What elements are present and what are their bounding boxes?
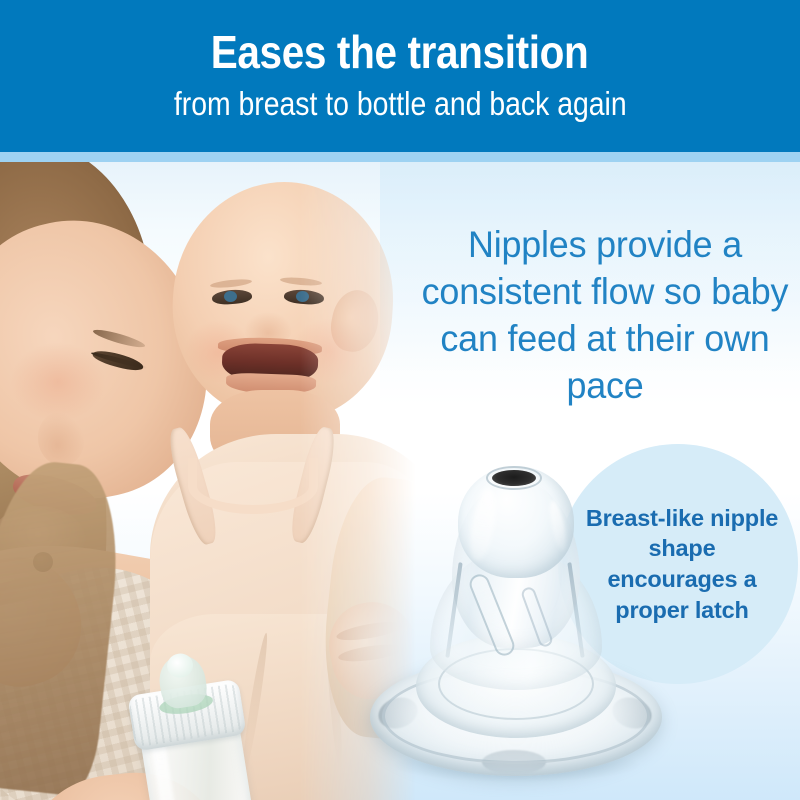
photo-inner: Dr. Brown's xyxy=(0,162,420,800)
banner-headline: Eases the transition xyxy=(211,28,589,76)
product-nipple-image xyxy=(366,462,666,782)
header-banner: Eases the transition from breast to bott… xyxy=(0,0,800,152)
baby-iris-right xyxy=(296,291,309,302)
nipple-feeding-hole xyxy=(492,470,536,486)
banner-subhead: from breast to bottle and back again xyxy=(174,86,627,122)
body-copy-block: Nipples provide a consistent flow so bab… xyxy=(410,222,800,410)
marketing-image: Eases the transition from breast to bott… xyxy=(0,0,800,800)
body-copy-text: Nipples provide a consistent flow so bab… xyxy=(416,222,794,410)
banner-accent-stripe xyxy=(0,152,800,162)
mother-and-baby-photo: Dr. Brown's xyxy=(0,162,420,800)
baby-iris-left xyxy=(224,291,237,302)
baby-romper-neckline xyxy=(188,458,318,514)
